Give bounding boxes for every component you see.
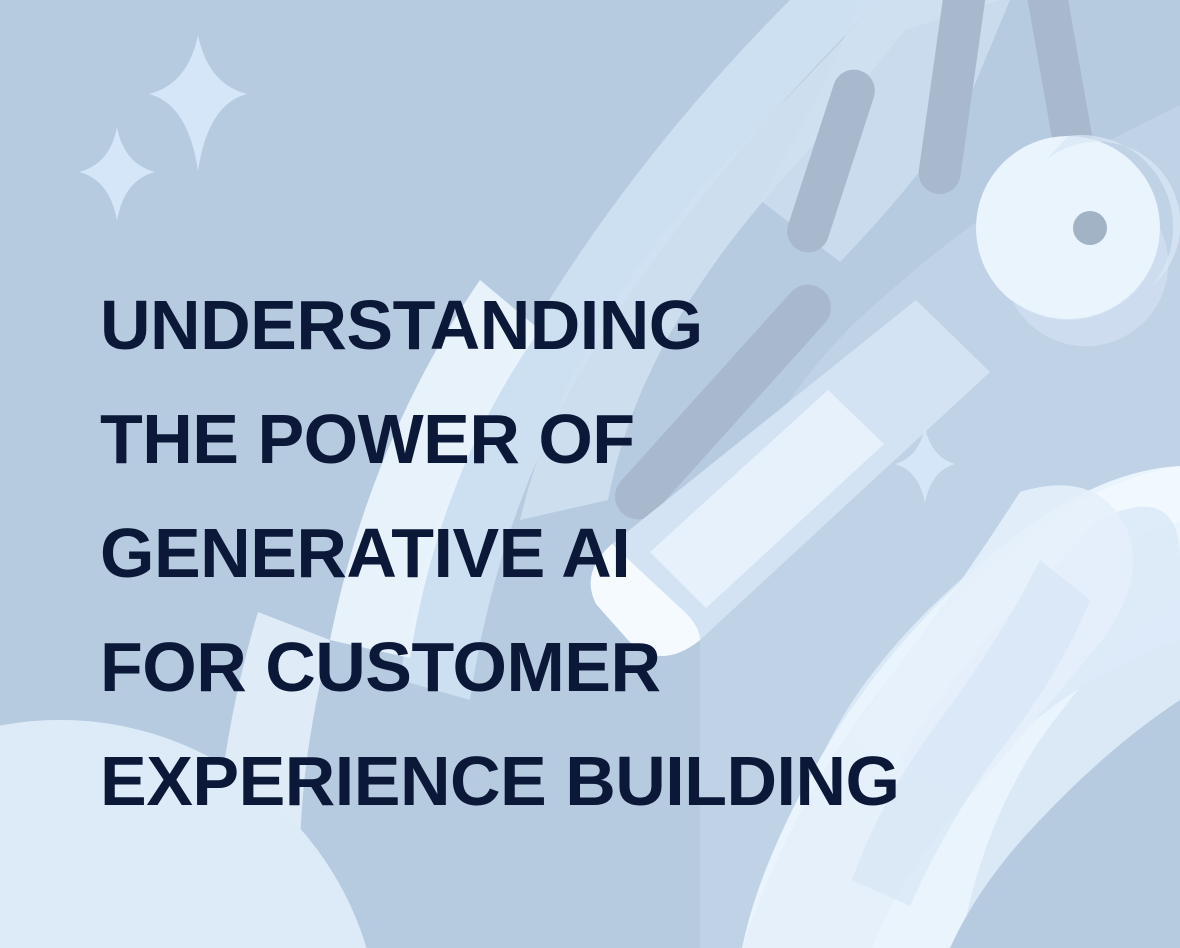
headline-line-3: GENERATIVE AI <box>100 496 1020 610</box>
joint-center-dot <box>1073 211 1107 245</box>
headline-block: UNDERSTANDING THE POWER OF GENERATIVE AI… <box>100 268 1020 838</box>
headline-line-1: UNDERSTANDING <box>100 268 1020 382</box>
headline-line-5: EXPERIENCE BUILDING <box>100 724 1020 838</box>
headline-line-4: FOR CUSTOMER <box>100 610 1020 724</box>
poster-canvas: UNDERSTANDING THE POWER OF GENERATIVE AI… <box>0 0 1180 948</box>
headline-line-2: THE POWER OF <box>100 382 1020 496</box>
